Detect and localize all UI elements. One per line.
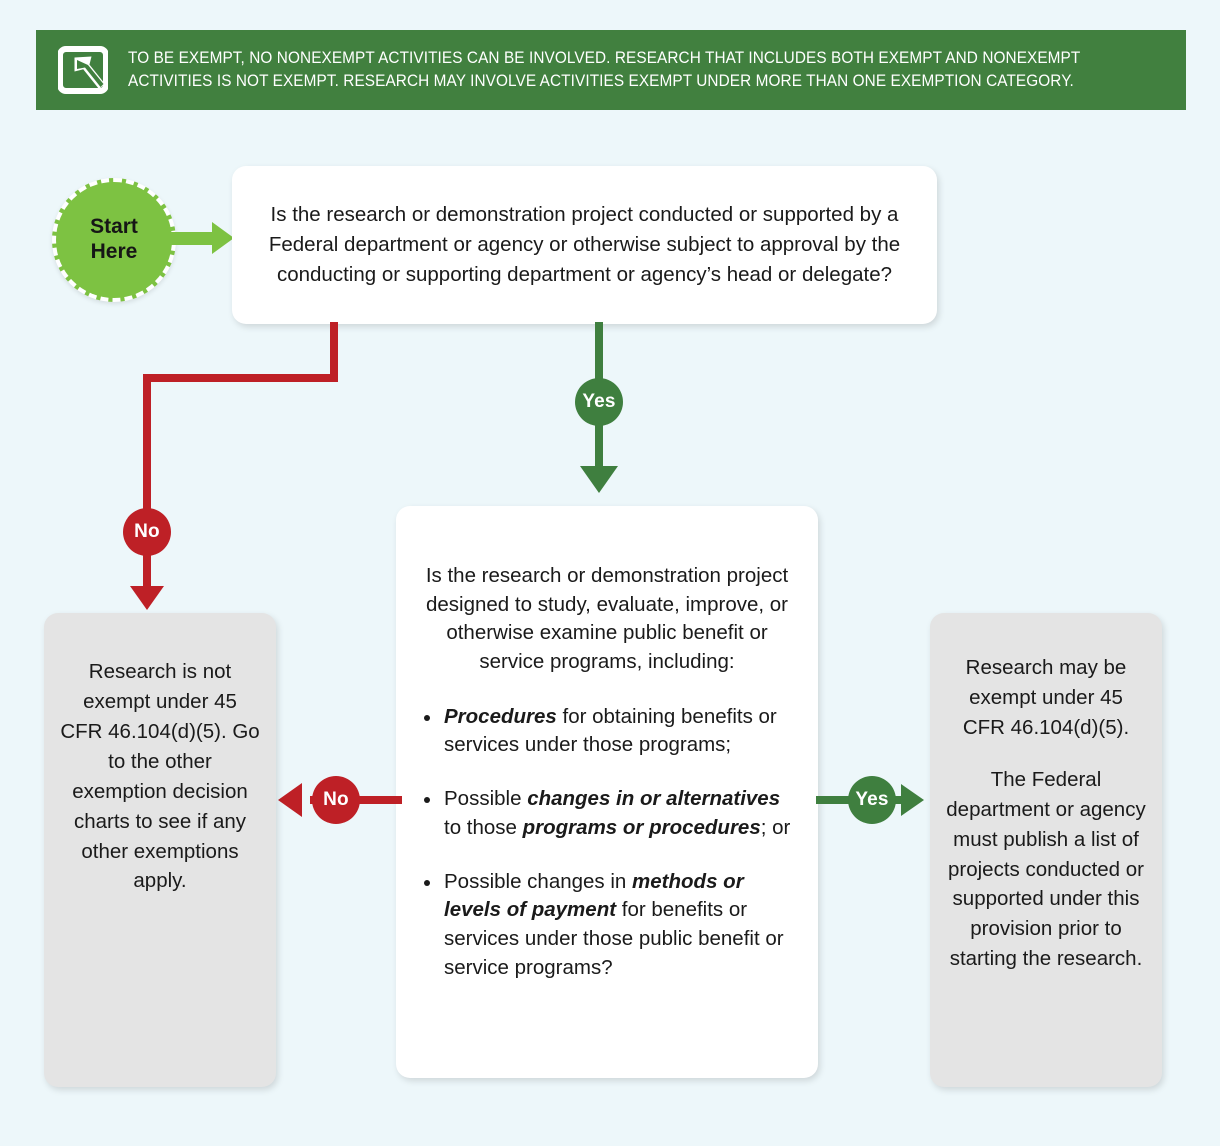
- bullet-2-part2: changes in or alternatives: [527, 787, 780, 810]
- question-1-text: Is the research or demonstration project…: [258, 200, 911, 290]
- question-2-bullet-3: Possible changes in methods or levels of…: [418, 868, 796, 983]
- connector-q1-yes-vertical-1: [595, 322, 603, 384]
- badge-no-q2: No: [312, 776, 360, 824]
- bullet-2-part3: to those: [444, 816, 523, 839]
- connector-q1-no-horizontal: [143, 374, 338, 382]
- arrowhead-q1-yes: [580, 466, 618, 493]
- badge-no-q1-label: No: [134, 521, 160, 543]
- start-label-line2: Here: [90, 240, 138, 265]
- question-2-bullet-list: Procedures for obtaining benefits or ser…: [418, 703, 796, 983]
- info-banner: TO BE EXEMPT, NO NONEXEMPT ACTIVITIES CA…: [36, 30, 1186, 110]
- badge-yes-q1-label: Yes: [582, 391, 615, 413]
- arrowhead-start-to-q1: [212, 222, 234, 254]
- arrowhead-q2-no: [278, 783, 302, 817]
- outcome-may-be-exempt-paragraph-1: Research may be exempt under 45 CFR 46.1…: [946, 653, 1146, 743]
- outcome-paragraph-spacer: [946, 743, 1146, 765]
- start-label-line1: Start: [90, 215, 138, 240]
- start-here-node: Start Here: [52, 178, 176, 302]
- connector-q1-no-vertical-1: [330, 322, 338, 382]
- arrowhead-q1-no: [130, 586, 164, 610]
- badge-yes-q1: Yes: [575, 378, 623, 426]
- badge-yes-q2-label: Yes: [855, 789, 888, 811]
- bullet-2-part1: Possible: [444, 787, 527, 810]
- connector-q1-no-vertical-3: [143, 552, 151, 588]
- flowchart-canvas: TO BE EXEMPT, NO NONEXEMPT ACTIVITIES CA…: [0, 0, 1220, 1146]
- question-1-box: Is the research or demonstration project…: [232, 166, 937, 324]
- badge-no-q2-label: No: [323, 789, 349, 811]
- outcome-not-exempt-text: Research is not exempt under 45 CFR 46.1…: [60, 657, 260, 896]
- question-2-bullet-2: Possible changes in or alternatives to t…: [418, 785, 796, 842]
- connector-q1-yes-vertical-2: [595, 422, 603, 468]
- bullet-dot-icon: [424, 797, 430, 803]
- bullet-dot-icon: [424, 880, 430, 886]
- question-2-bullet-1: Procedures for obtaining benefits or ser…: [418, 703, 796, 760]
- bullet-2-part5: ; or: [761, 816, 791, 839]
- outcome-not-exempt-box: Research is not exempt under 45 CFR 46.1…: [44, 613, 276, 1087]
- bullet-3-part1: Possible changes in: [444, 870, 632, 893]
- document-pencil-icon: [56, 41, 110, 99]
- outcome-may-be-exempt-box: Research may be exempt under 45 CFR 46.1…: [930, 613, 1162, 1087]
- badge-no-q1: No: [123, 508, 171, 556]
- question-2-box: Is the research or demonstration project…: [396, 506, 818, 1078]
- connector-start-to-q1: [168, 232, 214, 245]
- outcome-may-be-exempt-paragraph-2: The Federal department or agency must pu…: [946, 765, 1146, 974]
- question-2-lead-text: Is the research or demonstration project…: [418, 562, 796, 677]
- bullet-dot-icon: [424, 715, 430, 721]
- bullet-1-part1: Procedures: [444, 705, 557, 728]
- bullet-2-part4: programs or procedures: [523, 816, 761, 839]
- banner-text: TO BE EXEMPT, NO NONEXEMPT ACTIVITIES CA…: [128, 47, 1095, 94]
- badge-yes-q2: Yes: [848, 776, 896, 824]
- arrowhead-q2-yes: [901, 784, 924, 816]
